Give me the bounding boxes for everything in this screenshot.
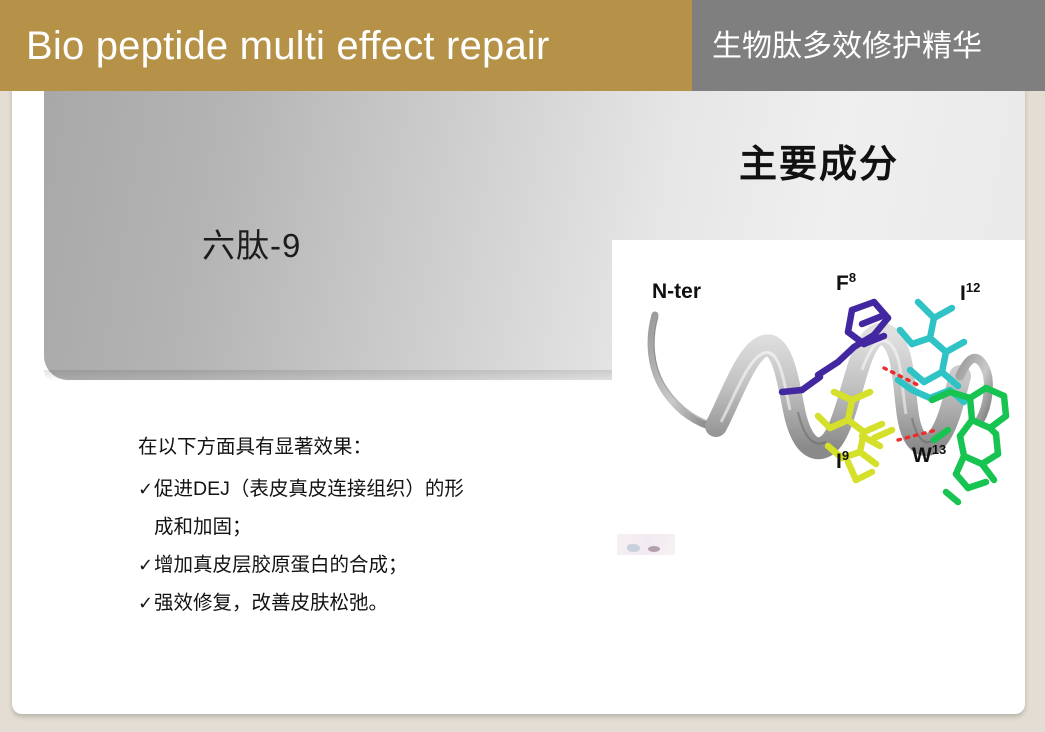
check-icon: ✓ bbox=[138, 546, 154, 584]
header-title-english: Bio peptide multi effect repair bbox=[26, 17, 666, 75]
benefits-lead: 在以下方面具有显著效果： bbox=[138, 428, 568, 466]
fragment-blob-right bbox=[648, 546, 660, 552]
peptide-structure-figure: N-ter F8 I12 I9 W13 bbox=[612, 240, 1025, 540]
list-item: ✓ 促进DEJ（表皮真皮连接组织）的形 bbox=[138, 470, 568, 508]
list-item: ✓ 增加真皮层胶原蛋白的合成； bbox=[138, 546, 568, 584]
list-item-label: 增加真皮层胶原蛋白的合成； bbox=[154, 546, 568, 584]
peptide-helix-illustration: N-ter F8 I12 I9 W13 bbox=[612, 240, 1025, 540]
list-item: ✓ 强效修复，改善皮肤松弛。 bbox=[138, 584, 568, 622]
slide-root: 主要成分 六肽-9 bbox=[0, 0, 1045, 732]
partial-image-fragment bbox=[617, 534, 675, 555]
check-icon: ✓ bbox=[138, 470, 154, 508]
page-title: 主要成分 bbox=[739, 140, 899, 190]
slide-header: Bio peptide multi effect repair 生物肽多效修护精… bbox=[0, 0, 1045, 91]
list-item-continuation: 成和加固； bbox=[138, 508, 568, 546]
check-icon: ✓ bbox=[138, 584, 154, 622]
ingredient-name: 六肽-9 bbox=[202, 223, 301, 269]
benefits-text-block: 在以下方面具有显著效果： ✓ 促进DEJ（表皮真皮连接组织）的形 成和加固； ✓… bbox=[138, 428, 568, 622]
slide-card: 主要成分 六肽-9 bbox=[12, 0, 1025, 714]
list-item-label: 强效修复，改善皮肤松弛。 bbox=[154, 584, 568, 622]
list-item-label: 促进DEJ（表皮真皮连接组织）的形 bbox=[154, 470, 568, 508]
label-n-terminus: N-ter bbox=[652, 280, 701, 303]
fragment-blob-left bbox=[627, 544, 640, 552]
header-title-chinese: 生物肽多效修护精华 bbox=[712, 22, 1032, 72]
